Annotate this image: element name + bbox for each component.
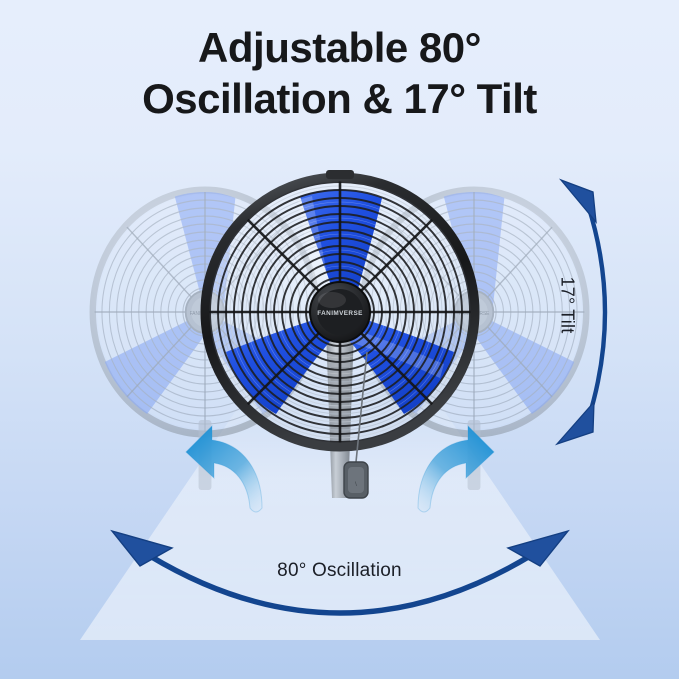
tilt-arc-line bbox=[588, 205, 605, 420]
page-title: Adjustable 80° Oscillation & 17° Tilt bbox=[0, 22, 679, 124]
tilt-label: 17° Tilt bbox=[557, 277, 578, 334]
feature-graphic-canvas: FANIMVERSE bbox=[0, 0, 679, 679]
tilt-arrowhead-top bbox=[561, 180, 596, 222]
oscillation-label: 80° Oscillation bbox=[0, 560, 679, 582]
tilt-arrowhead-bottom bbox=[557, 402, 594, 444]
page-title-line-2: Oscillation & 17° Tilt bbox=[0, 73, 679, 124]
page-title-line-1: Adjustable 80° bbox=[0, 22, 679, 73]
